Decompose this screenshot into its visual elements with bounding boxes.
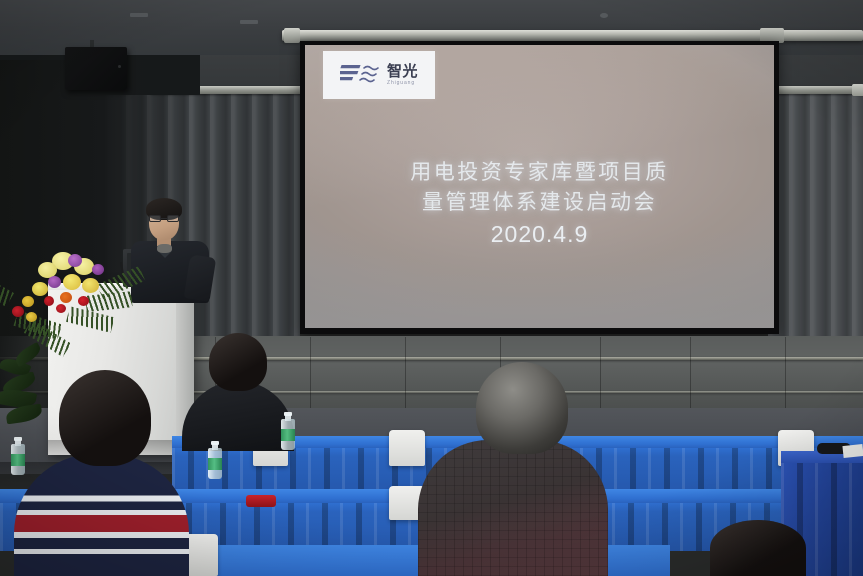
- side-table-papers: [842, 444, 863, 458]
- red-case: [246, 495, 276, 507]
- wall-seam: [785, 337, 786, 413]
- projection-screen-surface: 智光 Zhiguang 用电投资专家库暨项目质 量管理体系建设启动会 2020.…: [305, 45, 774, 328]
- attendee-dark-suit: [182, 333, 294, 449]
- wall-seam: [690, 337, 691, 413]
- flower-arrangement: [8, 248, 148, 343]
- attendee-gray-haired: [418, 362, 608, 576]
- slide-logo-card: 智光 Zhiguang: [323, 51, 435, 99]
- wall-seam: [405, 337, 406, 413]
- slide-date: 2020.4.9: [305, 221, 774, 248]
- roller-bracket-left: [284, 28, 300, 43]
- ceiling-light-icon: [600, 13, 608, 18]
- curtain-right: [768, 92, 863, 342]
- glasses-icon: [149, 215, 179, 222]
- attendee-head: [476, 362, 568, 454]
- wall-speaker-icon: [65, 47, 127, 90]
- ceiling-vent-icon: [240, 20, 258, 24]
- water-bottle: [281, 412, 295, 450]
- attendee-partial-right: [700, 520, 820, 576]
- ceiling-vent-icon: [130, 13, 148, 17]
- slide-title: 用电投资专家库暨项目质 量管理体系建设启动会: [305, 157, 774, 217]
- zhiguang-logo-icon: [340, 61, 382, 89]
- curtain-rail-cap: [852, 84, 863, 96]
- attendee-striped-sweater: [14, 370, 189, 576]
- attendee-shoulders: [182, 381, 294, 451]
- attendee-head: [59, 370, 151, 466]
- attendee-jacket: [418, 440, 608, 576]
- slide-title-line-2: 量管理体系建设启动会: [305, 187, 774, 217]
- logo-name-cn: 智光: [387, 64, 418, 79]
- conference-photo: 智光 Zhiguang 用电投资专家库暨项目质 量管理体系建设启动会 2020.…: [0, 0, 863, 576]
- slide-title-line-1: 用电投资专家库暨项目质: [305, 157, 774, 187]
- projection-screen: 智光 Zhiguang 用电投资专家库暨项目质 量管理体系建设启动会 2020.…: [300, 41, 779, 334]
- logo-name-en: Zhiguang: [387, 81, 418, 86]
- wall-seam: [310, 337, 311, 413]
- presenter-scarf: [157, 244, 172, 253]
- attendee-head: [209, 333, 267, 391]
- attendee-head: [710, 520, 806, 576]
- water-bottle: [208, 441, 222, 479]
- attendee-shoulders: [14, 454, 189, 576]
